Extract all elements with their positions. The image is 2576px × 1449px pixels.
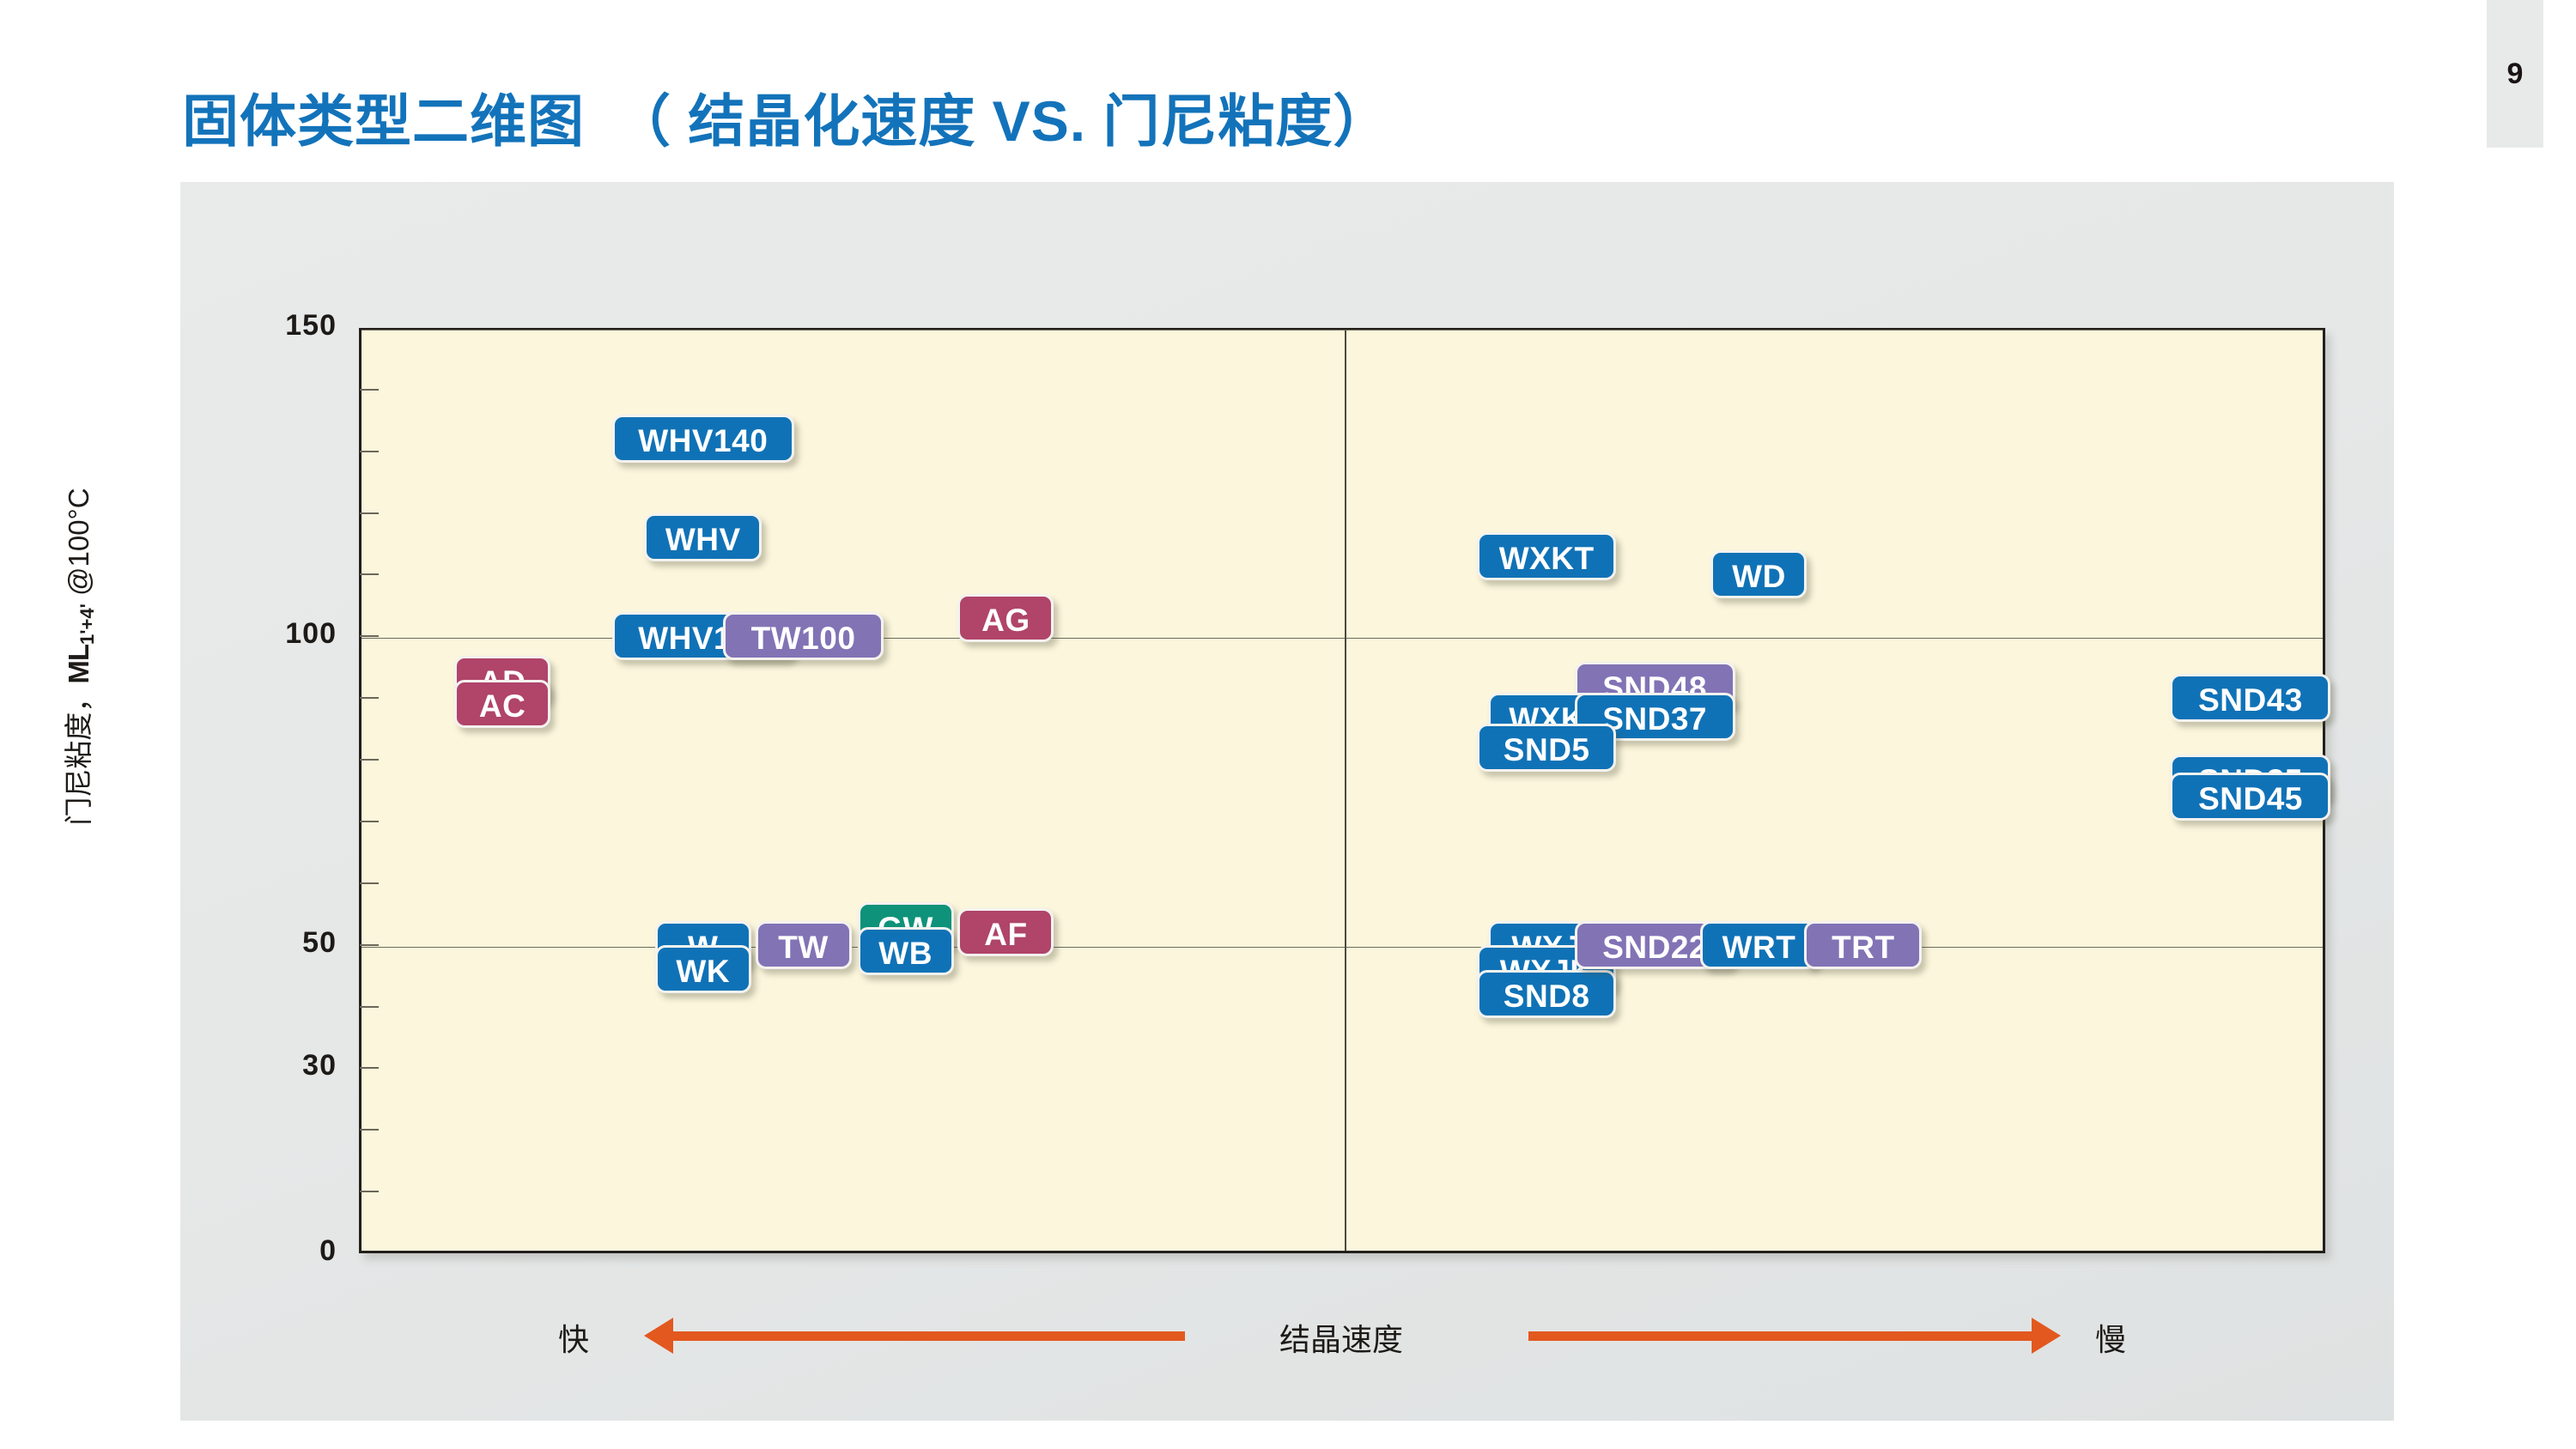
data-chip[interactable]: SND5 [1477, 724, 1616, 772]
y-axis-tick [360, 573, 379, 575]
data-chip[interactable]: WXKT [1477, 532, 1616, 580]
data-chip[interactable]: SND43 [2170, 674, 2330, 722]
y-axis-tick [360, 944, 379, 946]
y-axis-tick [360, 1129, 379, 1131]
gridline [361, 330, 2323, 330]
y-axis-label: 150 [208, 309, 337, 343]
plot-area [359, 328, 2325, 1253]
x-axis-arrow-slow-head [2032, 1318, 2061, 1354]
page-number-chip: 9 [2487, 0, 2543, 148]
y-axis-title: 门尼粘度，ML1'+4' @100°C [56, 433, 99, 880]
x-axis-arrow-fast-head [644, 1318, 673, 1354]
data-chip[interactable]: AG [957, 594, 1054, 642]
y-axis-tick [360, 882, 379, 884]
data-chip[interactable]: SND8 [1477, 970, 1616, 1018]
data-chip[interactable]: WHV [644, 513, 762, 561]
data-chip[interactable]: TW100 [723, 612, 884, 660]
quadrant-divider [1345, 330, 1346, 1251]
x-axis-right-label: 慢 [2095, 1315, 2126, 1360]
y-axis-label: 0 [208, 1234, 337, 1268]
x-axis-arrow-fast-line [670, 1331, 1185, 1341]
y-axis-tick [360, 635, 379, 637]
data-chip[interactable]: WB [858, 927, 954, 975]
data-chip[interactable]: AF [957, 908, 1054, 956]
x-axis-center-label: 结晶速度 [1279, 1315, 1403, 1360]
y-axis-tick [360, 1006, 379, 1008]
y-axis-label: 100 [208, 617, 337, 651]
y-axis-tick [360, 1191, 379, 1192]
data-chip[interactable]: SND45 [2170, 773, 2330, 821]
y-axis-tick [360, 389, 379, 391]
page-title: 固体类型二维图 （ 结晶化速度 VS. 门尼粘度） [182, 76, 1390, 158]
data-chip[interactable]: WRT [1700, 921, 1818, 969]
data-chip[interactable]: TW [756, 921, 852, 969]
x-axis-left-label: 快 [558, 1315, 589, 1360]
y-axis-tick [360, 512, 379, 514]
y-axis-tick [360, 697, 379, 699]
data-chip[interactable]: TRT [1804, 921, 1922, 969]
page-number: 9 [2487, 0, 2543, 148]
data-chip[interactable]: WHV140 [612, 415, 794, 463]
y-axis-label: 30 [208, 1049, 337, 1082]
data-chip[interactable]: WK [655, 945, 751, 993]
y-axis-label: 50 [208, 926, 337, 960]
y-axis-tick [360, 451, 379, 452]
x-axis-arrow-slow-line [1528, 1331, 2035, 1341]
y-axis-tick [360, 821, 379, 822]
data-chip[interactable]: WD [1710, 550, 1807, 598]
y-axis-tick [360, 759, 379, 761]
y-axis-tick [360, 1067, 379, 1069]
data-chip[interactable]: AC [454, 680, 550, 728]
